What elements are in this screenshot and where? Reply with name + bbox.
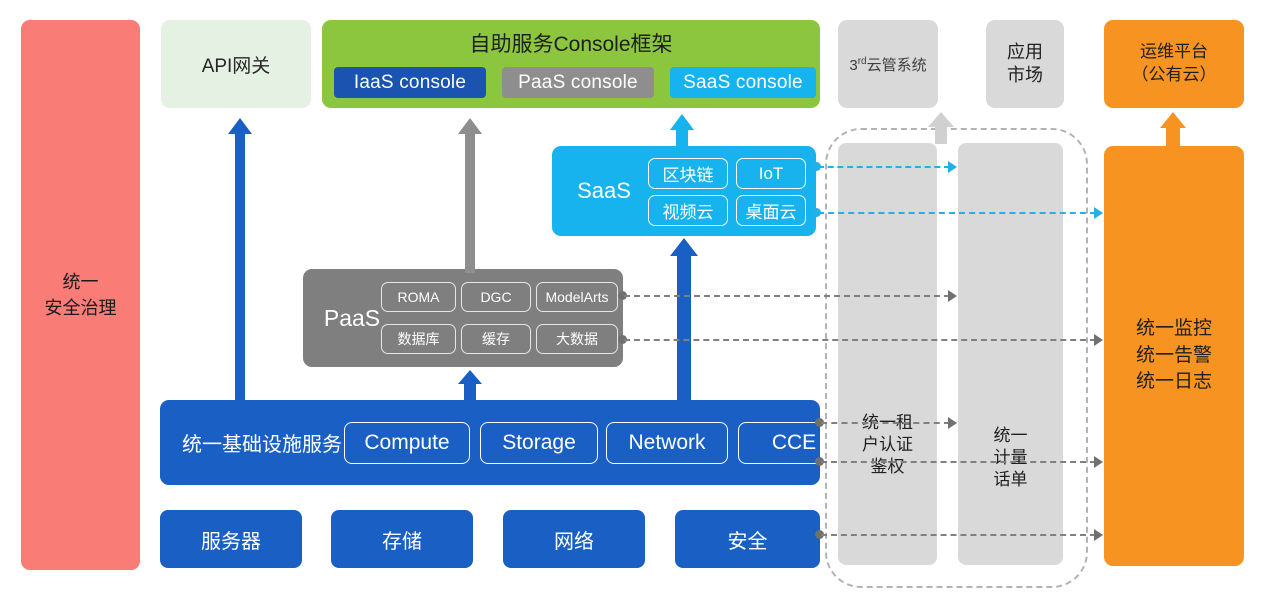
connector-arrowhead-hardware-to-ops bbox=[1094, 529, 1103, 541]
app-market-box: 应用 市场 bbox=[986, 20, 1064, 108]
ops-platform-header-label: 运维平台 （公有云） bbox=[1132, 41, 1217, 87]
security-line-1: 统一 bbox=[45, 269, 117, 295]
arrow-infra-to-api-gateway bbox=[228, 118, 252, 402]
saas-box: SaaS 区块链 IoT 视频云 桌面云 bbox=[552, 146, 816, 236]
hardware-storage-label: 存储 bbox=[382, 525, 422, 554]
infrastructure-item-storage-label: Storage bbox=[502, 431, 576, 455]
infrastructure-box: 统一基础设施服务 Compute Storage Network CCE bbox=[160, 400, 820, 485]
connector-arrowhead-saas-to-ops bbox=[1094, 207, 1103, 219]
ops-body-line-2: 统一告警 bbox=[1136, 343, 1212, 370]
security-line-2: 安全治理 bbox=[45, 295, 117, 321]
arrow-ops-body-to-ops-header bbox=[1160, 112, 1186, 148]
infrastructure-item-network-label: Network bbox=[628, 431, 705, 455]
arrow-paas-to-paas-console bbox=[458, 118, 482, 273]
paas-console-chip: PaaS console bbox=[502, 67, 654, 98]
unified-metering-column: 统一 计量 话单 bbox=[958, 143, 1063, 565]
ops-body-line-3: 统一日志 bbox=[1136, 369, 1212, 396]
infrastructure-label: 统一基础设施服务 bbox=[172, 400, 352, 485]
arrow-infra-to-paas bbox=[458, 370, 482, 402]
infrastructure-item-network: Network bbox=[606, 422, 728, 464]
connector-saas-to-ops bbox=[818, 212, 1096, 214]
ops-platform-header-box: 运维平台 （公有云） bbox=[1104, 20, 1244, 108]
arrow-shared-to-third-party bbox=[928, 112, 954, 144]
saas-label: SaaS bbox=[564, 146, 644, 236]
app-market-line-2: 市场 bbox=[1007, 64, 1043, 87]
saas-item-video-cloud: 视频云 bbox=[648, 195, 728, 226]
paas-item-bigdata-label: 大数据 bbox=[556, 329, 598, 349]
paas-box: PaaS ROMA DGC ModelArts 数据库 缓存 大数据 bbox=[303, 269, 623, 367]
saas-item-blockchain-label: 区块链 bbox=[663, 161, 714, 186]
hardware-security-label: 安全 bbox=[728, 525, 768, 554]
third-party-prefix: 3 bbox=[849, 57, 857, 74]
paas-item-cache-label: 缓存 bbox=[482, 329, 510, 349]
unified-metering-line-2: 计量 bbox=[958, 447, 1063, 469]
ops-platform-title-2: （公有云） bbox=[1132, 64, 1217, 87]
console-framework-box: 自助服务Console框架 IaaS console PaaS console … bbox=[322, 20, 820, 108]
connector-paas-to-auth bbox=[624, 295, 950, 297]
hardware-box-storage: 存储 bbox=[331, 510, 473, 568]
paas-item-roma: ROMA bbox=[381, 282, 456, 312]
paas-item-dgc-label: DGC bbox=[480, 289, 511, 305]
connector-arrowhead-infra-to-ops bbox=[1094, 456, 1103, 468]
saas-console-label: SaaS console bbox=[683, 72, 803, 94]
security-governance-panel: 统一 安全治理 bbox=[21, 20, 140, 570]
unified-metering-label: 统一 计量 话单 bbox=[958, 425, 1063, 491]
connector-arrowhead-paas-to-ops bbox=[1094, 334, 1103, 346]
api-gateway-label: API网关 bbox=[202, 51, 271, 78]
connector-saas-to-metering bbox=[818, 166, 950, 168]
infrastructure-item-compute: Compute bbox=[344, 422, 470, 464]
infrastructure-item-cce-label: CCE bbox=[772, 431, 816, 455]
paas-item-database-label: 数据库 bbox=[398, 329, 440, 349]
infrastructure-item-compute-label: Compute bbox=[364, 431, 449, 455]
infrastructure-item-storage: Storage bbox=[480, 422, 598, 464]
hardware-box-security: 安全 bbox=[675, 510, 820, 568]
hardware-network-label: 网络 bbox=[554, 525, 594, 554]
paas-console-label: PaaS console bbox=[518, 72, 638, 94]
arrow-saas-to-saas-console bbox=[670, 114, 694, 150]
paas-item-cache: 缓存 bbox=[461, 324, 531, 354]
connector-paas-to-ops bbox=[624, 339, 1096, 341]
app-market-line-1: 应用 bbox=[1007, 41, 1043, 64]
third-party-sup: rd bbox=[858, 56, 867, 67]
security-governance-label: 统一 安全治理 bbox=[45, 269, 117, 321]
ops-platform-body-box: 统一监控 统一告警 统一日志 bbox=[1104, 146, 1244, 566]
saas-item-desktop-cloud-label: 桌面云 bbox=[746, 198, 797, 223]
hardware-box-server: 服务器 bbox=[160, 510, 302, 568]
connector-hardware-to-ops bbox=[821, 534, 1096, 536]
paas-item-bigdata: 大数据 bbox=[536, 324, 618, 354]
saas-console-chip: SaaS console bbox=[670, 67, 816, 98]
hardware-box-network: 网络 bbox=[503, 510, 645, 568]
app-market-label: 应用 市场 bbox=[1007, 41, 1043, 88]
third-party-cloud-box: 3rd云管系统 bbox=[838, 20, 938, 108]
arrow-infra-to-saas bbox=[670, 238, 698, 402]
ops-body-line-1: 统一监控 bbox=[1136, 316, 1212, 343]
iaas-console-chip: IaaS console bbox=[334, 67, 486, 98]
api-gateway-box: API网关 bbox=[161, 20, 311, 108]
third-party-cloud-label: 3rd云管系统 bbox=[849, 54, 926, 75]
unified-metering-line-1: 统一 bbox=[958, 425, 1063, 447]
unified-auth-column: 统一租 户认证 鉴权 bbox=[838, 143, 937, 565]
saas-item-iot: IoT bbox=[736, 158, 806, 189]
unified-metering-line-3: 话单 bbox=[958, 469, 1063, 491]
paas-item-modelarts: ModelArts bbox=[536, 282, 618, 312]
connector-arrowhead-infra-to-auth bbox=[948, 417, 957, 429]
paas-label: PaaS bbox=[311, 269, 393, 367]
saas-item-blockchain: 区块链 bbox=[648, 158, 728, 189]
ops-platform-body-label: 统一监控 统一告警 统一日志 bbox=[1136, 316, 1212, 396]
iaas-console-label: IaaS console bbox=[354, 72, 466, 94]
saas-item-iot-label: IoT bbox=[759, 164, 784, 184]
ops-platform-title-1: 运维平台 bbox=[1132, 41, 1217, 64]
saas-item-video-cloud-label: 视频云 bbox=[663, 198, 714, 223]
paas-item-dgc: DGC bbox=[461, 282, 531, 312]
paas-item-roma-label: ROMA bbox=[398, 289, 440, 305]
connector-infra-to-auth bbox=[821, 422, 950, 424]
console-framework-title: 自助服务Console框架 bbox=[322, 28, 820, 58]
connector-infra-to-ops bbox=[821, 461, 1096, 463]
connector-arrowhead-saas-to-metering bbox=[948, 161, 957, 173]
unified-auth-line-3: 鉴权 bbox=[838, 456, 937, 478]
third-party-suffix: 云管系统 bbox=[867, 57, 927, 74]
hardware-server-label: 服务器 bbox=[201, 525, 261, 554]
unified-auth-line-2: 户认证 bbox=[838, 434, 937, 456]
paas-item-modelarts-label: ModelArts bbox=[545, 289, 608, 305]
saas-item-desktop-cloud: 桌面云 bbox=[736, 195, 806, 226]
architecture-diagram: 统一 安全治理 API网关 自助服务Console框架 IaaS console… bbox=[0, 0, 1265, 605]
paas-item-database: 数据库 bbox=[381, 324, 456, 354]
connector-arrowhead-paas-to-auth bbox=[948, 290, 957, 302]
